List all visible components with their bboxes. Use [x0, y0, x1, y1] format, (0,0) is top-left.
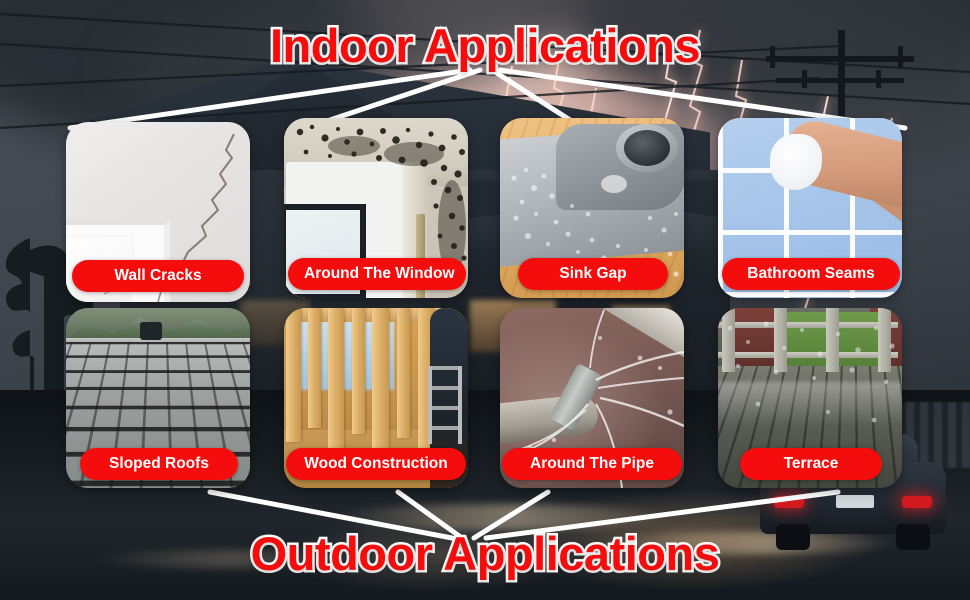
infographic-canvas: Indoor Applications Outdoor Applications…: [0, 0, 970, 600]
tile-bathroom-seams[interactable]: Bathroom Seams: [718, 118, 902, 298]
tile-terrace[interactable]: Terrace: [718, 308, 902, 488]
wall-stud: [286, 308, 301, 442]
tile-label-bathroom-seams: Bathroom Seams: [722, 258, 900, 290]
tile-around-the-window[interactable]: Around The Window: [284, 118, 468, 298]
roof-vent: [140, 322, 162, 340]
wall-stud: [397, 308, 410, 438]
tile-label-sloped-roofs: Sloped Roofs: [80, 448, 238, 480]
tile-wood-construction[interactable]: Wood Construction: [284, 308, 468, 488]
tile-label-wood-construction: Wood Construction: [286, 448, 466, 480]
tile-label-terrace: Terrace: [740, 448, 882, 480]
tile-sink-gap[interactable]: Sink Gap: [500, 118, 684, 298]
step-ladder: [428, 366, 462, 444]
wall-stud: [352, 308, 365, 434]
page-title-indoor: Indoor Applications: [0, 18, 970, 73]
wall-stud: [328, 308, 344, 450]
tile-around-the-pipe[interactable]: Around The Pipe: [500, 308, 684, 488]
tile-label-sink-gap: Sink Gap: [518, 258, 668, 290]
tile-sloped-roofs[interactable]: Sloped Roofs: [66, 308, 250, 488]
tile-label-around-the-window: Around The Window: [288, 258, 466, 290]
tile-label-around-the-pipe: Around The Pipe: [502, 448, 682, 480]
application-tiles-grid: Wall Cracks: [0, 0, 970, 600]
tile-label-wall-cracks: Wall Cracks: [72, 260, 244, 292]
wall-stud: [308, 308, 321, 428]
page-title-outdoor: Outdoor Applications: [0, 526, 970, 581]
tile-wall-cracks[interactable]: Wall Cracks: [66, 122, 250, 302]
wall-stud: [372, 308, 389, 454]
